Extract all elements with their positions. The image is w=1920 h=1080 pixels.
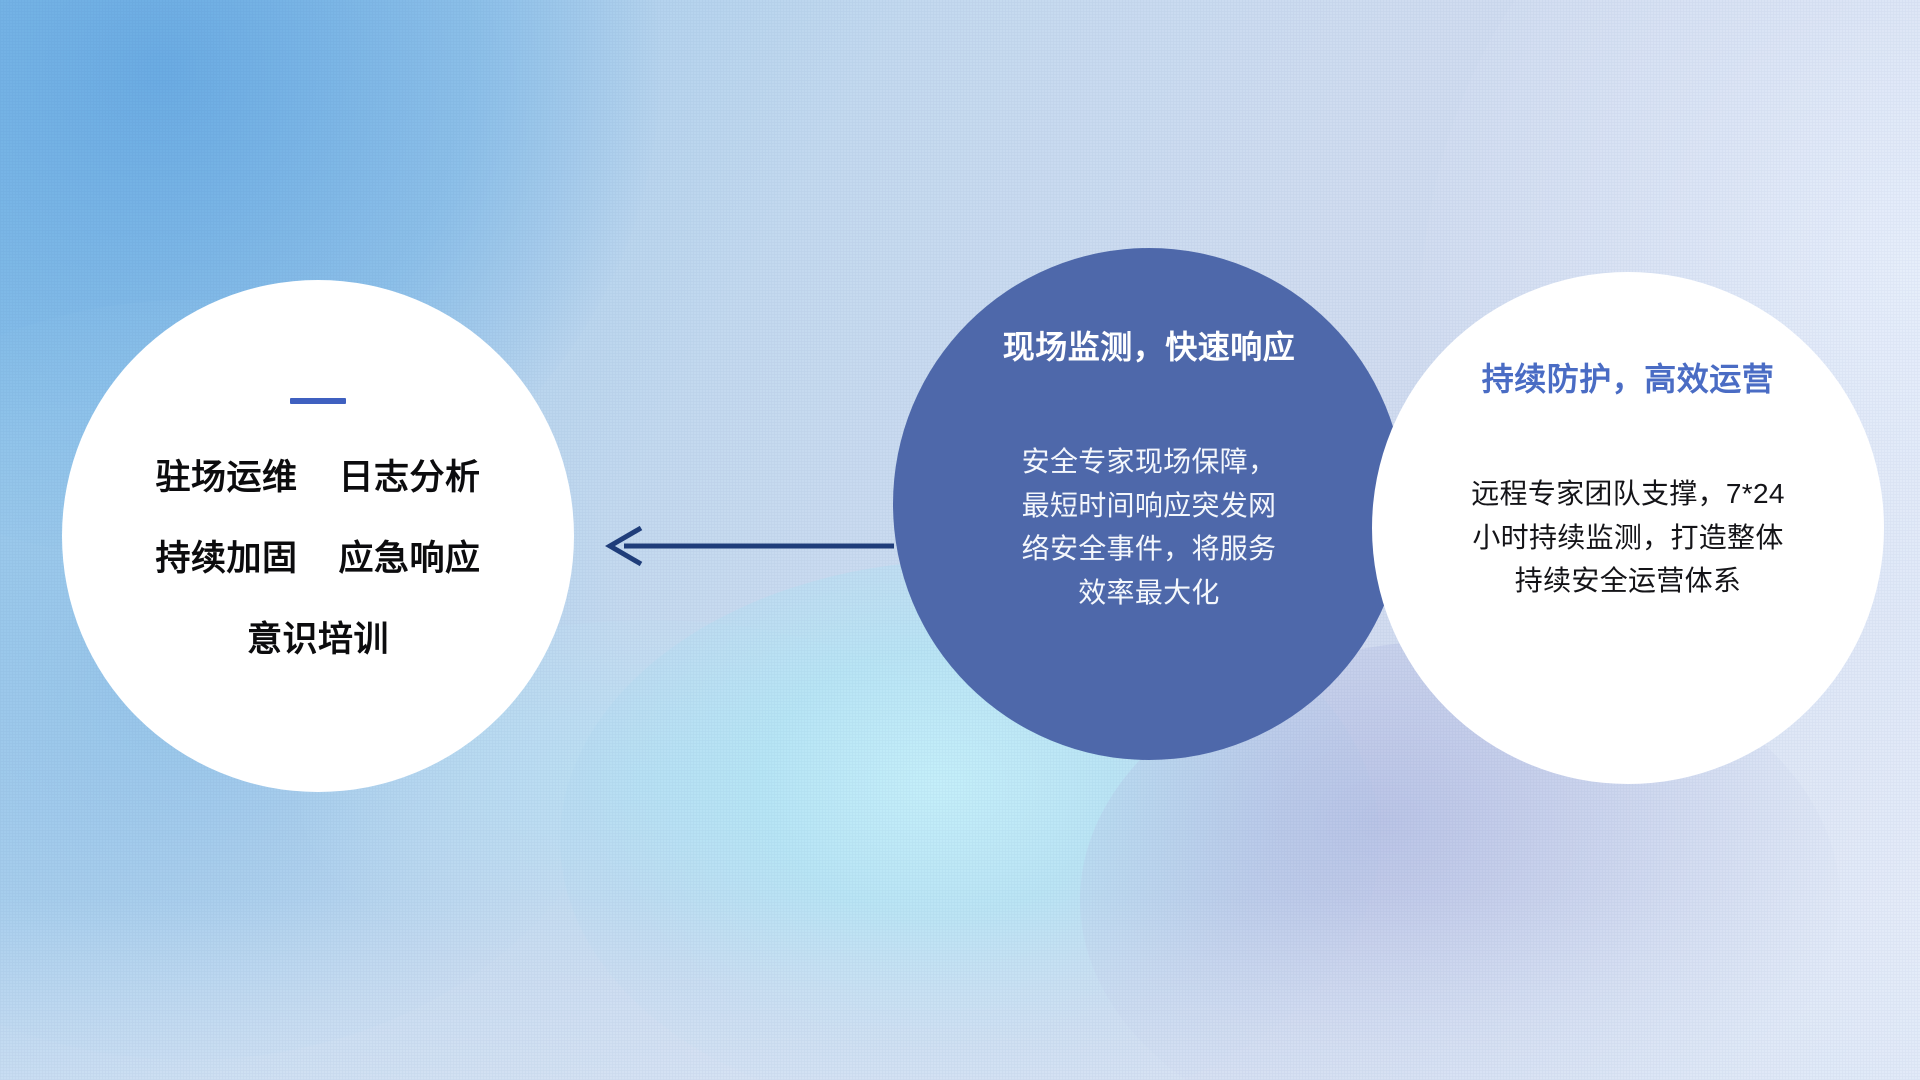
card-onsite-services[interactable]: 驻场运维 日志分析 持续加固 应急响应 意识培训 bbox=[62, 280, 574, 792]
slide-canvas: 驻场运维 日志分析 持续加固 应急响应 意识培训 现场监测，快速响应 安全专家现… bbox=[0, 0, 1920, 1080]
card-continuous-protection[interactable]: 持续防护，高效运营 远程专家团队支撑，7*24 小时持续监测，打造整体 持续安全… bbox=[1372, 272, 1884, 784]
card-onsite-monitoring-body: 安全专家现场保障， 最短时间响应突发网 络安全事件，将服务 效率最大化 bbox=[953, 440, 1345, 615]
card-continuous-protection-title: 持续防护，高效运营 bbox=[1417, 354, 1839, 400]
card-continuous-protection-body: 远程专家团队支撑，7*24 小时持续监测，打造整体 持续安全运营体系 bbox=[1417, 472, 1839, 603]
body-line: 持续安全运营体系 bbox=[1417, 559, 1839, 603]
body-line: 效率最大化 bbox=[953, 571, 1345, 615]
service-list-line: 持续加固 应急响应 bbox=[103, 541, 533, 576]
card-onsite-monitoring-title: 现场监测，快速响应 bbox=[953, 322, 1345, 368]
arrow-left-icon bbox=[598, 510, 894, 582]
body-line: 远程专家团队支撑，7*24 bbox=[1417, 472, 1839, 516]
card-onsite-monitoring-content: 现场监测，快速响应 安全专家现场保障， 最短时间响应突发网 络安全事件，将服务 … bbox=[945, 322, 1353, 615]
card-onsite-services-content: 驻场运维 日志分析 持续加固 应急响应 意识培训 bbox=[103, 398, 533, 657]
service-list-line: 意识培训 bbox=[103, 622, 533, 657]
card-onsite-monitoring[interactable]: 现场监测，快速响应 安全专家现场保障， 最短时间响应突发网 络安全事件，将服务 … bbox=[893, 248, 1405, 760]
body-line: 最短时间响应突发网 bbox=[953, 484, 1345, 528]
card-continuous-protection-content: 持续防护，高效运营 远程专家团队支撑，7*24 小时持续监测，打造整体 持续安全… bbox=[1407, 354, 1849, 603]
service-list-line: 驻场运维 日志分析 bbox=[103, 460, 533, 495]
body-line: 小时持续监测，打造整体 bbox=[1417, 516, 1839, 560]
body-line: 安全专家现场保障， bbox=[953, 440, 1345, 484]
body-line: 络安全事件，将服务 bbox=[953, 527, 1345, 571]
dash-accent-icon bbox=[290, 398, 346, 404]
